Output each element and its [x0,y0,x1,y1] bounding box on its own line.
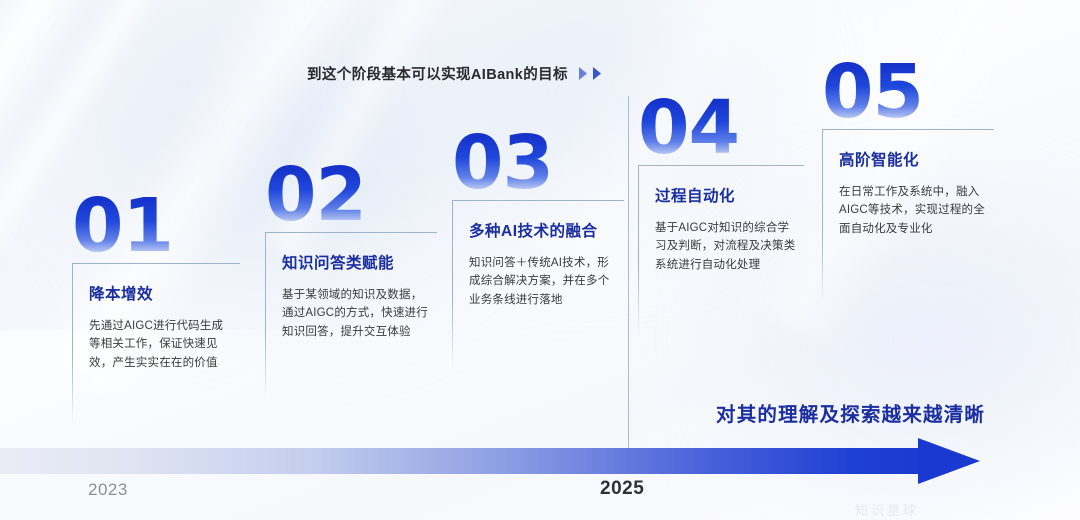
double-chevron-right-icon [577,66,604,81]
step-03-body: 知识问答＋传统AI技术，形成综合解决方案，并在多个业务条线进行落地 [469,254,619,310]
step-05-body: 在日常工作及系统中，融入AIGC等技术，实现过程的全面自动化及专业化 [839,183,989,239]
goal-annotation: 到这个阶段基本可以实现AIBank的目标 [307,63,604,84]
step-01-card: 降本增效 先通过AIGC进行代码生成等相关工作，保证快速见效，产生实实在在的价值 [72,263,240,423]
milestone-marker-line [628,96,629,448]
step-04: 04 过程自动化 基于AIGC对知识的综合学习及判断，对流程及决策类系统进行自动… [638,98,804,337]
step-05-number: 05 [822,62,994,123]
timeline-start-label: 2023 [88,480,128,500]
step-04-title: 过程自动化 [655,184,804,206]
step-01-number: 01 [72,196,240,257]
right-arrow-icon [918,438,980,484]
step-05-card: 高阶智能化 在日常工作及系统中，融入AIGC等技术，实现过程的全面自动化及专业化 [822,129,994,305]
step-02: 02 知识问答类赋能 基于某领域的知识及数据，通过AIGC的方式，快速进行知识回… [265,165,437,400]
step-01: 01 降本增效 先通过AIGC进行代码生成等相关工作，保证快速见效，产生实实在在… [72,196,240,423]
tagline: 对其的理解及探索越来越清晰 [716,398,985,427]
step-05-title: 高阶智能化 [839,148,994,170]
step-04-body: 基于AIGC对知识的综合学习及判断，对流程及决策类系统进行自动化处理 [655,219,797,275]
step-02-title: 知识问答类赋能 [282,251,437,273]
step-03: 03 多种AI技术的融合 知识问答＋传统AI技术，形成综合解决方案，并在多个业务… [452,133,624,370]
infographic-canvas: 到这个阶段基本可以实现AIBank的目标 01 降本增效 先通过AIGC进行代码… [0,0,1080,520]
goal-annotation-label: 到这个阶段基本可以实现AIBank的目标 [307,63,568,84]
step-04-card: 过程自动化 基于AIGC对知识的综合学习及判断，对流程及决策类系统进行自动化处理 [638,165,804,337]
timeline-milestone-label: 2025 [600,478,644,500]
step-05: 05 高阶智能化 在日常工作及系统中，融入AIGC等技术，实现过程的全面自动化及… [822,62,994,305]
step-03-card: 多种AI技术的融合 知识问答＋传统AI技术，形成综合解决方案，并在多个业务条线进… [452,200,624,370]
step-01-title: 降本增效 [89,282,240,304]
watermark: 知识星球 [855,500,919,519]
timeline-arrow [0,440,1080,486]
step-02-body: 基于某领域的知识及数据，通过AIGC的方式，快速进行知识回答，提升交互体验 [282,286,430,342]
step-02-number: 02 [265,165,437,226]
timeline-arrow-bar [0,448,926,474]
step-04-number: 04 [638,98,804,159]
step-02-card: 知识问答类赋能 基于某领域的知识及数据，通过AIGC的方式，快速进行知识回答，提… [265,232,437,400]
step-03-title: 多种AI技术的融合 [469,219,624,241]
step-01-body: 先通过AIGC进行代码生成等相关工作，保证快速见效，产生实实在在的价值 [89,317,229,373]
step-03-number: 03 [452,133,624,194]
